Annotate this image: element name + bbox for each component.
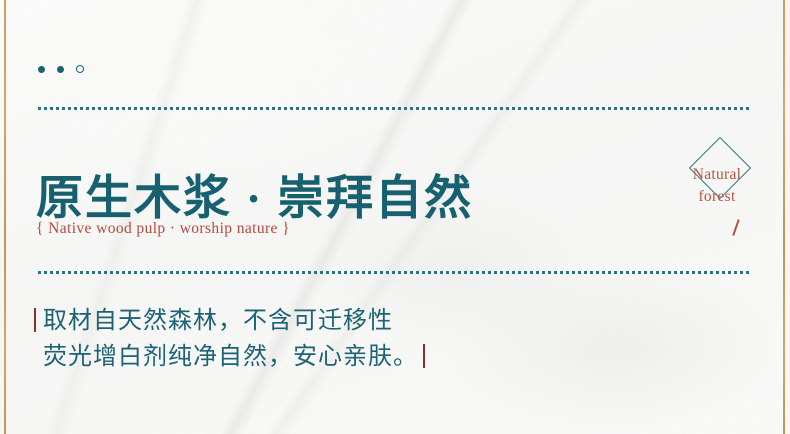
body-copy: 取材自天然森林，不含可迁移性 荧光增白剂纯净自然，安心亲肤。 [34, 303, 425, 376]
badge-line-2: forest [662, 186, 772, 208]
slash-mark-icon [732, 219, 739, 236]
body-line-1-text: 取材自天然森林，不含可迁移性 [43, 307, 393, 334]
gold-rule-right [783, 0, 785, 434]
body-line-2-text: 荧光增白剂纯净自然，安心亲肤。 [43, 343, 418, 370]
decor-dots-group [38, 65, 84, 73]
dot-hollow-icon [76, 65, 84, 73]
natural-forest-badge: Natural forest [662, 138, 772, 248]
badge-line-1: Natural [662, 164, 772, 186]
dotted-divider-bottom [38, 271, 750, 274]
dot-filled-icon [57, 66, 64, 73]
body-line-1: 取材自天然森林，不含可迁移性 [34, 303, 425, 339]
slide-canvas: 原生木浆 · 崇拜自然 { Native wood pulp · worship… [0, 0, 790, 434]
body-line-2: 荧光增白剂纯净自然，安心亲肤。 [34, 339, 425, 375]
gold-rule-left [4, 0, 6, 434]
quote-bar-close-icon [423, 344, 425, 368]
page-subtitle: { Native wood pulp · worship nature } [36, 220, 290, 238]
dotted-divider-top [38, 107, 750, 110]
badge-text: Natural forest [662, 164, 772, 208]
quote-bar-open-icon [34, 308, 36, 332]
dot-filled-icon [38, 66, 45, 73]
